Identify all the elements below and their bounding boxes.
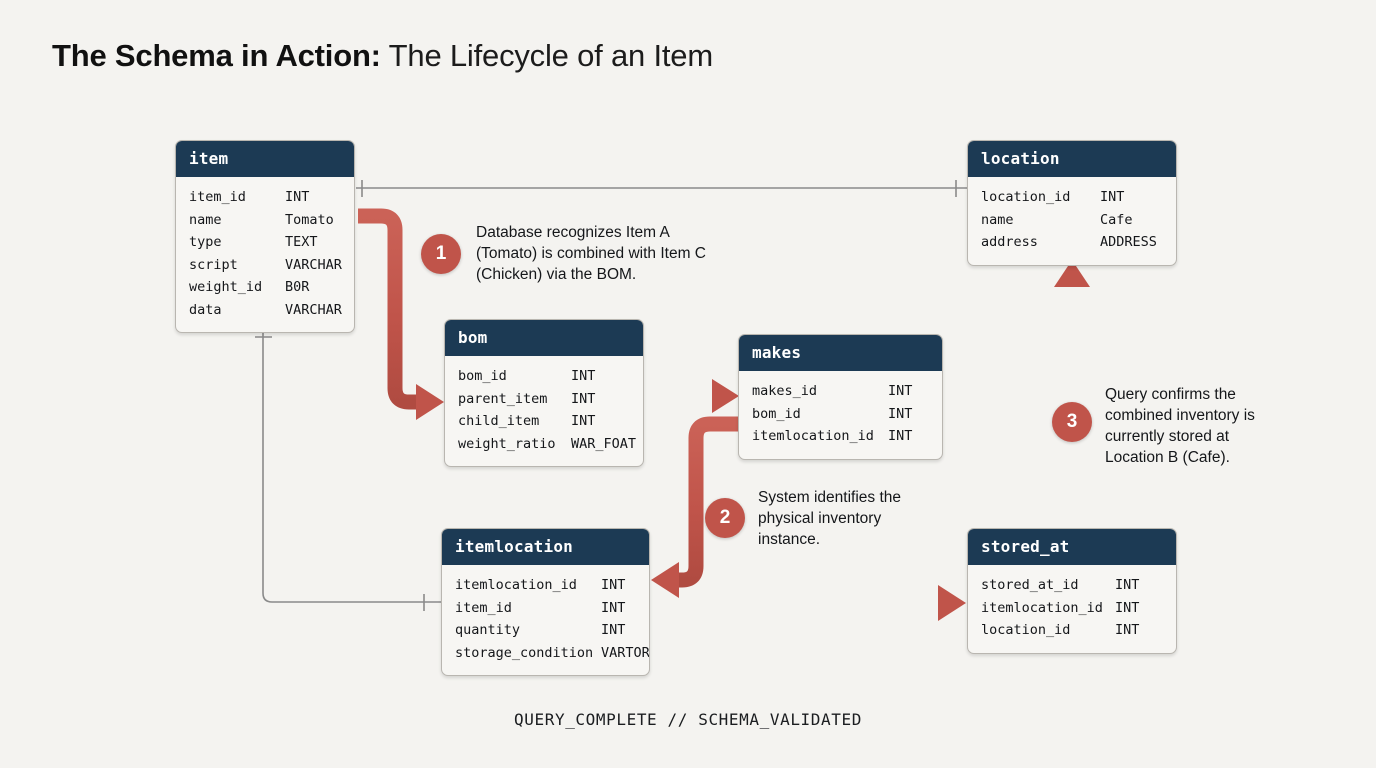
field-name: location_id <box>981 186 1100 209</box>
table-fields-location: location_id INT name Cafe address ADDRES… <box>968 177 1176 265</box>
field-name: item_id <box>455 597 601 620</box>
field-type: VARCHAR <box>285 254 342 277</box>
field-type: INT <box>1100 186 1124 209</box>
field-type: INT <box>888 425 912 448</box>
table-fields-stored-at: stored_at_id INT itemlocation_id INT loc… <box>968 565 1176 653</box>
diagram-canvas: The Schema in Action: The Lifecycle of a… <box>0 0 1376 768</box>
table-row: location_id INT <box>981 186 1163 209</box>
field-type: B0R <box>285 276 309 299</box>
field-type: INT <box>888 380 912 403</box>
table-title-stored-at: stored_at <box>968 529 1176 565</box>
step-note-2: System identifies the physical inventory… <box>758 487 938 550</box>
field-name: stored_at_id <box>981 574 1115 597</box>
table-title-bom: bom <box>445 320 643 356</box>
field-name: weight_id <box>189 276 285 299</box>
field-type: Cafe <box>1100 209 1133 232</box>
table-row: bom_id INT <box>752 403 929 426</box>
field-type: INT <box>1115 574 1139 597</box>
table-row: storage_condition VARTOR <box>455 642 636 665</box>
field-type: INT <box>571 388 595 411</box>
field-name: location_id <box>981 619 1115 642</box>
table-row: parent_item INT <box>458 388 630 411</box>
field-name: weight_ratio <box>458 433 571 456</box>
flow-arrow-itemlocation-to-storedat <box>653 585 966 621</box>
field-name: name <box>981 209 1100 232</box>
table-row: itemlocation_id INT <box>752 425 929 448</box>
field-type: INT <box>1115 619 1139 642</box>
field-name: bom_id <box>458 365 571 388</box>
table-title-itemlocation: itemlocation <box>442 529 649 565</box>
table-card-itemlocation[interactable]: itemlocation itemlocation_id INT item_id… <box>441 528 650 676</box>
step-badge-3: 3 <box>1052 402 1092 442</box>
table-row: script VARCHAR <box>189 254 341 277</box>
step-badge-2: 2 <box>705 498 745 538</box>
field-name: itemlocation_id <box>455 574 601 597</box>
table-title-makes: makes <box>739 335 942 371</box>
table-row: child_item INT <box>458 410 630 433</box>
field-type: INT <box>571 410 595 433</box>
field-name: makes_id <box>752 380 888 403</box>
table-fields-makes: makes_id INT bom_id INT itemlocation_id … <box>739 371 942 459</box>
table-fields-bom: bom_id INT parent_item INT child_item IN… <box>445 356 643 466</box>
field-name: child_item <box>458 410 571 433</box>
table-row: name Tomato <box>189 209 341 232</box>
field-type: INT <box>601 574 625 597</box>
table-row: item_id INT <box>455 597 636 620</box>
field-name: bom_id <box>752 403 888 426</box>
table-card-location[interactable]: location location_id INT name Cafe addre… <box>967 140 1177 266</box>
field-name: type <box>189 231 285 254</box>
table-row: type TEXT <box>189 231 341 254</box>
field-name: name <box>189 209 285 232</box>
field-name: item_id <box>189 186 285 209</box>
table-row: itemlocation_id INT <box>455 574 636 597</box>
field-type: VARCHAR <box>285 299 342 322</box>
table-card-makes[interactable]: makes makes_id INT bom_id INT itemlocati… <box>738 334 943 460</box>
table-title-location: location <box>968 141 1176 177</box>
field-name: script <box>189 254 285 277</box>
table-row: makes_id INT <box>752 380 929 403</box>
field-type: Tomato <box>285 209 334 232</box>
status-footer: QUERY_COMPLETE // SCHEMA_VALIDATED <box>0 710 1376 729</box>
relation-item-itemlocation <box>255 322 441 611</box>
table-row: bom_id INT <box>458 365 630 388</box>
table-row: stored_at_id INT <box>981 574 1163 597</box>
table-row: data VARCHAR <box>189 299 341 322</box>
field-type: VARTOR <box>601 642 650 665</box>
field-type: INT <box>1115 597 1139 620</box>
table-row: itemlocation_id INT <box>981 597 1163 620</box>
flow-arrow-storedat-to-location <box>1054 260 1090 527</box>
field-name: itemlocation_id <box>752 425 888 448</box>
step-note-1: Database recognizes Item A (Tomato) is c… <box>476 222 726 285</box>
field-name: storage_condition <box>455 642 601 665</box>
step-badge-1: 1 <box>421 234 461 274</box>
table-title-item: item <box>176 141 354 177</box>
field-type: ADDRESS <box>1100 231 1157 254</box>
field-name: itemlocation_id <box>981 597 1115 620</box>
table-card-bom[interactable]: bom bom_id INT parent_item INT child_ite… <box>444 319 644 467</box>
field-type: INT <box>888 403 912 426</box>
field-name: address <box>981 231 1100 254</box>
flow-arrow-bom-to-makes <box>645 379 739 413</box>
table-row: weight_id B0R <box>189 276 341 299</box>
field-type: TEXT <box>285 231 318 254</box>
table-fields-item: item_id INT name Tomato type TEXT script… <box>176 177 354 332</box>
field-type: INT <box>601 619 625 642</box>
table-fields-itemlocation: itemlocation_id INT item_id INT quantity… <box>442 565 649 675</box>
field-type: INT <box>571 365 595 388</box>
table-row: quantity INT <box>455 619 636 642</box>
table-row: item_id INT <box>189 186 341 209</box>
table-card-item[interactable]: item item_id INT name Tomato type TEXT s… <box>175 140 355 333</box>
table-row: address ADDRESS <box>981 231 1163 254</box>
field-type: INT <box>601 597 625 620</box>
relation-item-location <box>356 180 968 197</box>
field-name: data <box>189 299 285 322</box>
step-note-3: Query confirms the combined inventory is… <box>1105 384 1280 468</box>
field-type: INT <box>285 186 309 209</box>
field-type: WAR_FOAT <box>571 433 636 456</box>
field-name: parent_item <box>458 388 571 411</box>
table-row: name Cafe <box>981 209 1163 232</box>
field-name: quantity <box>455 619 601 642</box>
table-card-stored-at[interactable]: stored_at stored_at_id INT itemlocation_… <box>967 528 1177 654</box>
table-row: location_id INT <box>981 619 1163 642</box>
table-row: weight_ratio WAR_FOAT <box>458 433 630 456</box>
